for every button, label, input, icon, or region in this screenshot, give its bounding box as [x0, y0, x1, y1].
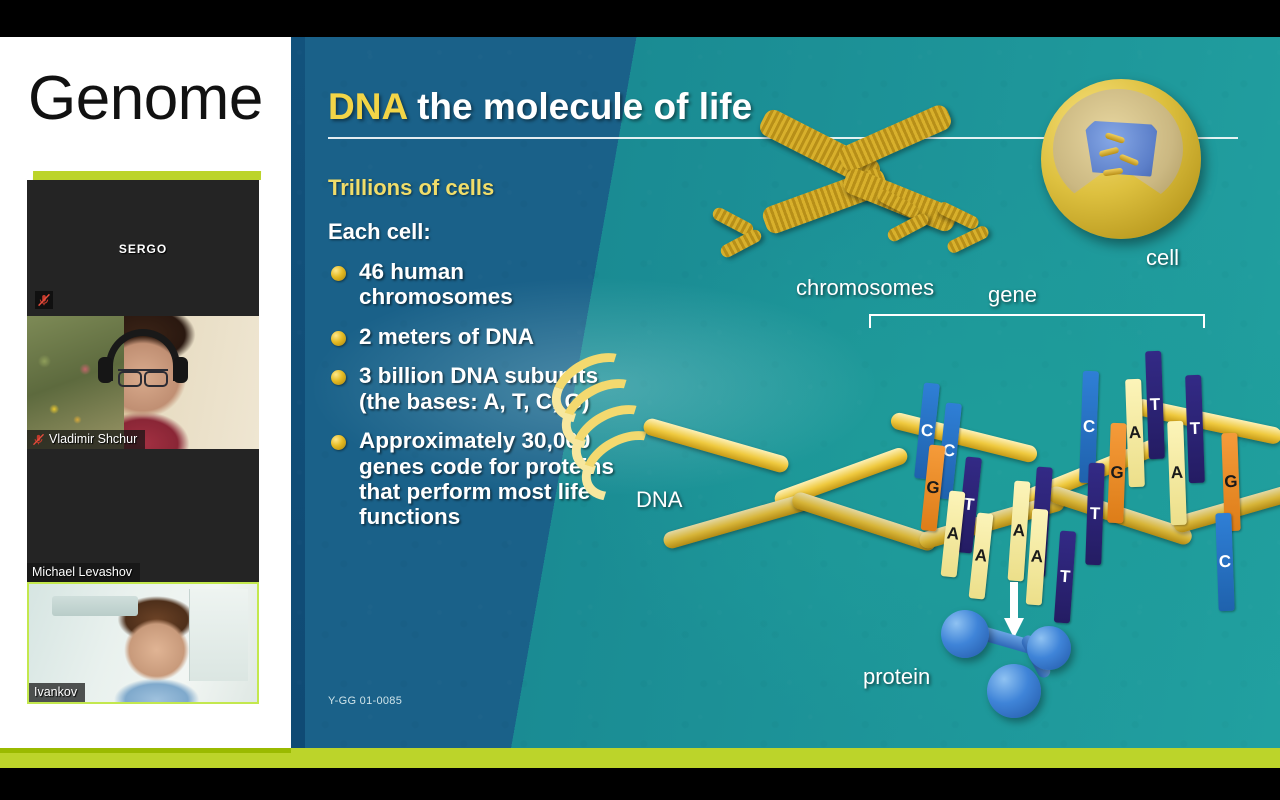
- headphone-earcup-right: [173, 357, 188, 383]
- dna-base: C: [1215, 513, 1234, 611]
- bottom-accent-bar: [0, 748, 1280, 768]
- letterbox-bottom: [0, 768, 1280, 800]
- participant-name-sergo: SERGO: [27, 242, 259, 256]
- dna-base: A: [1167, 421, 1187, 525]
- dna-strand: [889, 411, 1039, 464]
- participant-tile-michael-levashov[interactable]: Michael Levashov: [27, 449, 259, 582]
- background-door: [189, 589, 248, 681]
- lime-accent-tab: [33, 171, 261, 180]
- bullet-dot-icon: [331, 435, 346, 450]
- participant-tile-ivankov[interactable]: Ivankov: [27, 582, 259, 704]
- bullet-dot-icon: [331, 266, 346, 281]
- chromosome-small: [945, 224, 990, 255]
- label-cell: cell: [1146, 245, 1179, 271]
- dna-base: T: [1145, 351, 1165, 459]
- label-protein: protein: [863, 664, 930, 690]
- slide-left-band: [291, 37, 305, 748]
- dna-base: A: [1008, 481, 1031, 582]
- letterbox-top: [0, 0, 1280, 37]
- screen-root: Genome SERGO: [0, 0, 1280, 800]
- list-item: 46 human chromosomes: [328, 259, 616, 310]
- microphone-muted-icon: [32, 433, 45, 446]
- protein-atom: [1027, 626, 1071, 670]
- label-gene: gene: [988, 282, 1037, 308]
- participant-nametag-ivankov: Ivankov: [29, 683, 85, 702]
- eyeglasses: [118, 369, 168, 382]
- dna-base: T: [1085, 463, 1105, 565]
- slide-title: DNA the molecule of life: [328, 86, 752, 128]
- page-title: Genome: [28, 68, 290, 130]
- participant-name-vladimir: Vladimir Shchur: [49, 432, 137, 446]
- participant-nametag-michael: Michael Levashov: [27, 563, 140, 582]
- dna-double-helix: C C G T A A T A A C G T T A T T A G C: [521, 317, 1261, 647]
- participant-name-michael: Michael Levashov: [32, 565, 132, 579]
- slide-kicker: Trillions of cells: [328, 175, 494, 201]
- air-conditioner: [52, 596, 139, 616]
- protein-atom: [987, 664, 1041, 718]
- label-chromosomes: chromosomes: [796, 275, 934, 301]
- dna-base: A: [1125, 379, 1145, 487]
- bottom-accent-bar-left-segment: [0, 748, 291, 753]
- protein-molecule-illustration: [931, 592, 1081, 717]
- protein-atom: [941, 610, 989, 658]
- participant-name-ivankov: Ivankov: [34, 685, 77, 699]
- cell-illustration: [1041, 79, 1201, 239]
- slide-title-accent: DNA: [328, 86, 407, 127]
- participant-video-stack: SERGO: [27, 177, 259, 704]
- dna-base: A: [1026, 509, 1049, 606]
- bullet-dot-icon: [331, 331, 346, 346]
- participant-tile-sergo[interactable]: SERGO: [27, 180, 259, 316]
- dna-base: T: [1185, 375, 1205, 483]
- nuclear-chromosome: [1103, 168, 1124, 177]
- slide-title-rest: the molecule of life: [417, 86, 752, 127]
- slide-footer-code: Y-GG 01-0085: [328, 695, 402, 707]
- headphone-earcup-left: [98, 357, 113, 383]
- bullet-text: 46 human chromosomes: [359, 259, 513, 309]
- bullet-text: 2 meters of DNA: [359, 324, 534, 349]
- microphone-muted-icon: [35, 291, 53, 309]
- participant-tile-vladimir-shchur[interactable]: Vladimir Shchur: [27, 316, 259, 449]
- dna-strand: [790, 490, 938, 553]
- bullet-dot-icon: [331, 370, 346, 385]
- slide-subhead: Each cell:: [328, 219, 431, 245]
- shared-slide[interactable]: DNA the molecule of life Trillions of ce…: [291, 37, 1280, 748]
- participant-nametag-vladimir: Vladimir Shchur: [27, 430, 145, 449]
- dna-strand: [662, 493, 811, 551]
